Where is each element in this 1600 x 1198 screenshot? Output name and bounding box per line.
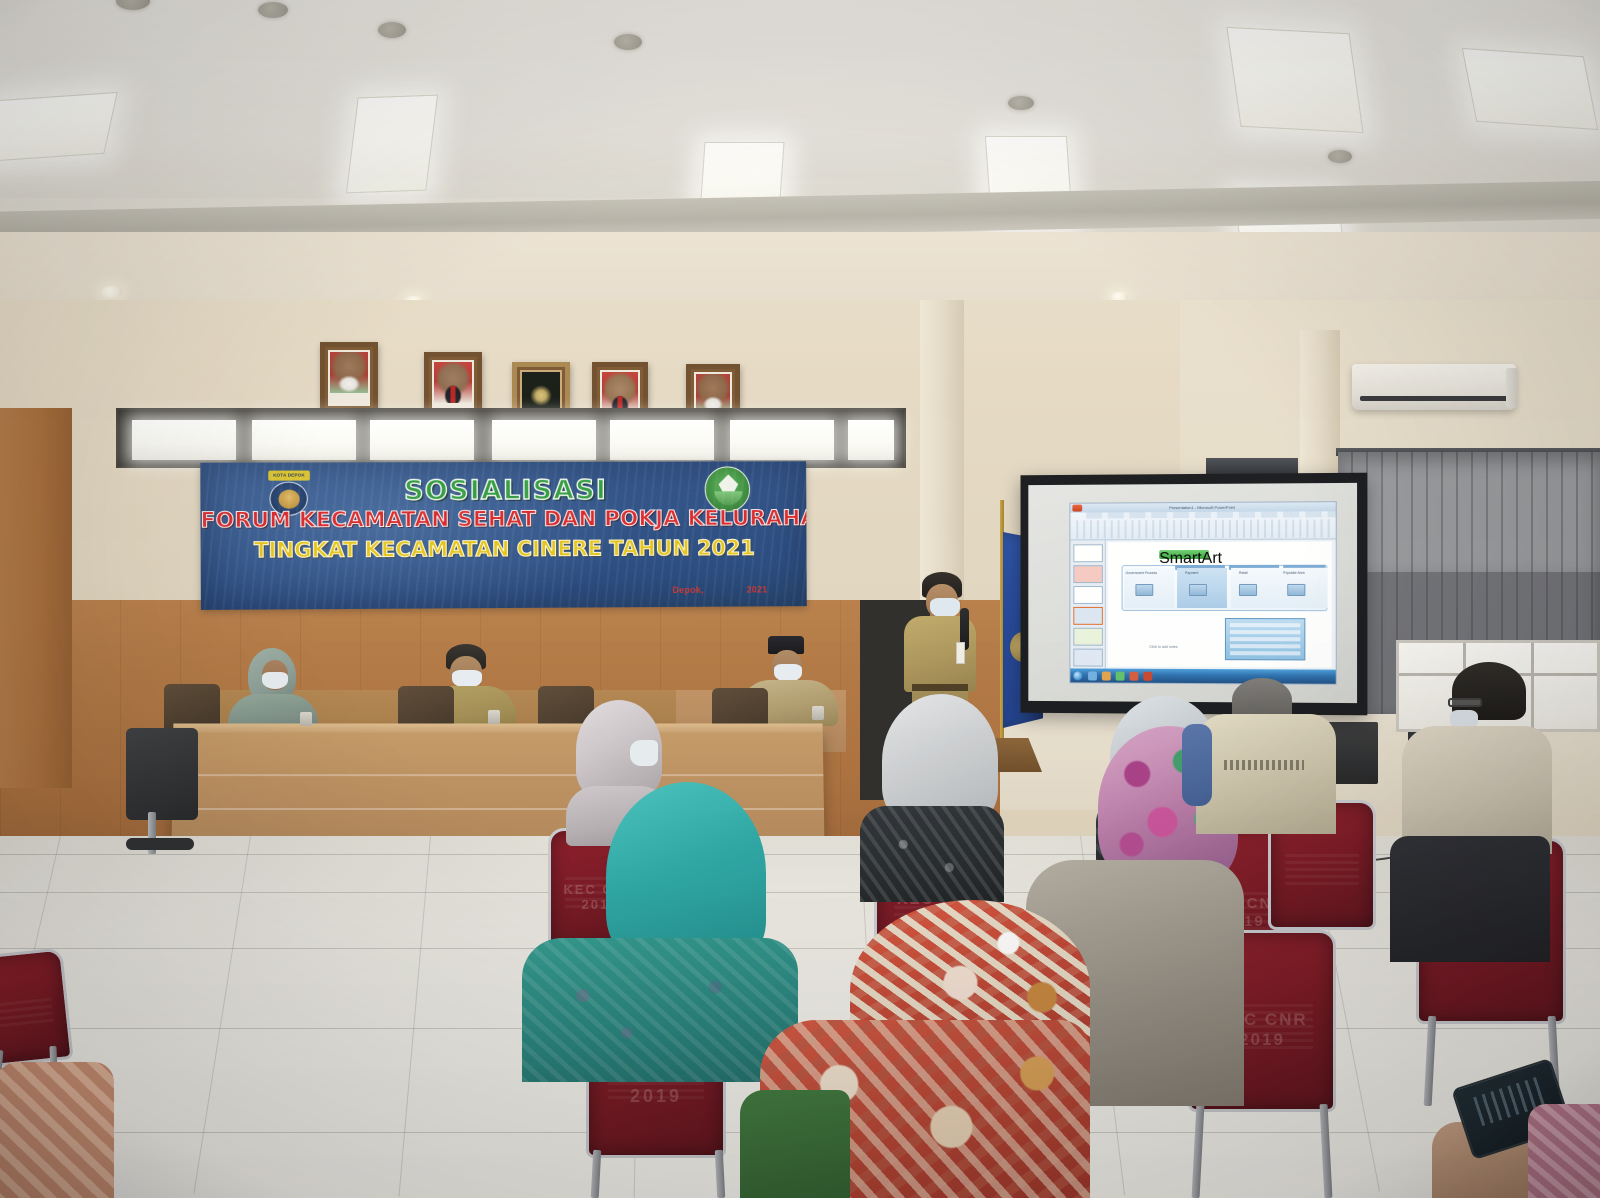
ceiling-downlight (1008, 96, 1034, 110)
ribbon-controls (1076, 519, 1331, 538)
air-conditioner (1352, 364, 1516, 410)
slide-notes-hint: Click to add notes (1149, 645, 1177, 649)
ceiling-panel-light (1226, 27, 1363, 133)
dress-dark-batik (860, 806, 1004, 902)
slide-thumbnail (1073, 586, 1102, 604)
smartart-monitor-icon (1239, 584, 1257, 596)
ceiling-panel-light (1462, 48, 1599, 130)
wood-wall-column (0, 408, 72, 788)
banner-line-2: FORUM KECAMATAN SEHAT DAN POKJA KELURAHA… (200, 506, 806, 533)
meeting-hall-photo: KOTA DEPOK SOSIALISASI FORUM KECAMATAN S… (0, 0, 1600, 1198)
ceiling-upper-plane (0, 0, 1600, 198)
smartart-dropdown-panel (1225, 618, 1305, 660)
window-pane (132, 420, 236, 460)
attendee-vest-kecamatan (1196, 678, 1336, 838)
smartart-monitor-icon (1135, 584, 1153, 596)
powerpoint-ribbon (1070, 511, 1335, 540)
smartart-label: Payment (1185, 571, 1198, 575)
slide-thumbnail (1073, 628, 1102, 646)
face-mask (930, 598, 960, 618)
floor-grout-line (193, 836, 251, 1194)
banner-place: Depok, (672, 585, 704, 595)
shirt-sleeve (1182, 724, 1212, 806)
event-banner: KOTA DEPOK SOSIALISASI FORUM KECAMATAN S… (200, 461, 806, 610)
projection-surface: Presentation1 - Microsoft PowerPoint (1028, 483, 1357, 703)
table-groove (173, 774, 824, 776)
office-orb-icon (1072, 505, 1082, 512)
menu-row (1230, 637, 1300, 641)
green-garment (740, 1090, 850, 1198)
window-pane (252, 420, 356, 460)
floor-grout-line (398, 836, 431, 1197)
vertical-blinds (1338, 452, 1600, 572)
id-lanyard (956, 642, 965, 664)
window-pane (370, 420, 474, 460)
attendee-hijab-teal (518, 782, 798, 1082)
face-mask (262, 672, 288, 689)
ceiling-downlight (614, 34, 642, 50)
ceiling-downlight (100, 286, 122, 298)
smartart-monitor-icon (1287, 584, 1305, 596)
drinking-glass (300, 712, 312, 726)
belt (912, 684, 968, 691)
window-pane (492, 420, 596, 460)
smartart-monitor-icon (1189, 584, 1207, 596)
ac-vent (1360, 396, 1508, 401)
menu-row (1230, 651, 1300, 655)
smartart-label: Retail (1239, 571, 1248, 575)
chair-base (126, 838, 194, 850)
window-pane (730, 420, 834, 460)
powerpoint-window: Presentation1 - Microsoft PowerPoint (1069, 501, 1336, 685)
taskbar-icon (1143, 671, 1152, 680)
ceiling (0, 0, 1600, 330)
attendee-phone-holder (1432, 1060, 1600, 1198)
ceiling-downlight (258, 2, 288, 18)
batik-garment (0, 1062, 114, 1198)
head-table-top-edge (173, 724, 822, 733)
smartart-label: Populate Area (1283, 571, 1305, 575)
field-vest (1196, 714, 1336, 834)
start-orb-icon (1073, 671, 1082, 680)
portrait-image (434, 362, 472, 403)
banner-line-3: TINGKAT KECAMATAN CINERE TAHUN 2021 (201, 536, 807, 563)
ac-pipe (1506, 368, 1518, 408)
taskbar-icon (1102, 671, 1111, 680)
shirt (1402, 726, 1552, 854)
slide-thumbnail (1073, 565, 1102, 583)
attendee-hijab-batik-red (760, 900, 1090, 1198)
office-chair (126, 728, 198, 820)
glasses-icon (1448, 698, 1482, 707)
portrait-image (330, 352, 368, 393)
smartart-label: Government Process (1126, 571, 1158, 575)
portrait-official-left (320, 342, 378, 414)
menu-row (1230, 623, 1300, 627)
batik-sleeve (1528, 1104, 1600, 1198)
chair-back (0, 947, 74, 1068)
slide-canvas: SmartArt Layout Government Process Payme… (1108, 542, 1332, 668)
drinking-glass (488, 710, 500, 724)
slide-thumbnail-selected (1073, 607, 1102, 625)
trousers (1390, 836, 1550, 962)
blouse-batik (522, 938, 798, 1082)
ceiling-downlight (378, 22, 406, 38)
face-mask (630, 740, 658, 766)
taskbar-icon (1116, 671, 1125, 680)
taskbar-icon (1129, 671, 1138, 680)
ceiling-panel-light (0, 92, 118, 162)
window-pane (848, 420, 894, 460)
ribbon-tabs (1086, 511, 1336, 518)
attendee-hijab-pastel (0, 1062, 114, 1198)
ceiling-panel-light (346, 95, 438, 194)
attendee-man-glasses (1396, 662, 1566, 962)
stacking-chair (0, 947, 74, 1068)
vest-print-label (1224, 760, 1304, 770)
clerestory-window-frame (116, 408, 906, 468)
drinking-glass (812, 706, 824, 720)
portrait-image (602, 372, 638, 413)
banner-year: 2021 (747, 584, 768, 594)
banner-headline: SOSIALISASI (200, 474, 806, 507)
ceiling-downlight (1328, 150, 1352, 163)
slide-thumbnail-pane (1070, 540, 1105, 668)
slide-thumbnail (1073, 544, 1102, 562)
window-pane (610, 420, 714, 460)
taskbar-icon (1088, 671, 1097, 680)
attendee-hijab-grey (856, 694, 1004, 894)
menu-row (1230, 630, 1300, 634)
slide-header-chip: SmartArt Layout (1159, 550, 1209, 559)
slide-thumbnail (1073, 649, 1102, 667)
menu-row (1230, 644, 1300, 648)
